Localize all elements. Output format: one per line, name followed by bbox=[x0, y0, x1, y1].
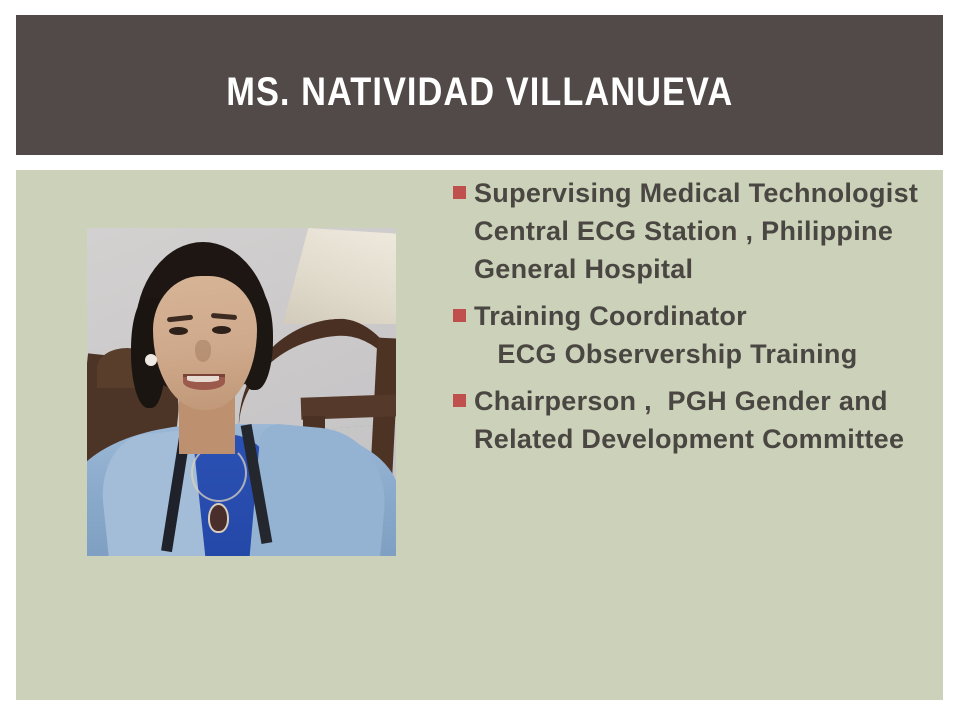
list-item-text: Chairperson , PGH Gender and Related Dev… bbox=[474, 382, 939, 458]
portrait-photo-image bbox=[87, 228, 396, 556]
list-item: Training Coordinator ECG Observership Tr… bbox=[453, 297, 939, 373]
photo-pendant bbox=[208, 503, 229, 533]
photo-earring bbox=[145, 354, 157, 366]
square-bullet-icon bbox=[453, 309, 466, 322]
slide-content-panel: Supervising Medical Technologist Central… bbox=[16, 170, 943, 700]
square-bullet-icon bbox=[453, 186, 466, 199]
slide: MS. NATIVIDAD VILLANUEVA bbox=[0, 0, 960, 720]
photo-eye-left bbox=[169, 327, 188, 335]
photo-nose bbox=[195, 340, 211, 362]
portrait-photo bbox=[87, 228, 396, 556]
page-title: MS. NATIVIDAD VILLANUEVA bbox=[226, 70, 733, 115]
list-item: Chairperson , PGH Gender and Related Dev… bbox=[453, 382, 939, 458]
list-item-text: Supervising Medical Technologist Central… bbox=[474, 174, 939, 288]
bullet-list: Supervising Medical Technologist Central… bbox=[453, 174, 939, 467]
photo-eye-right bbox=[212, 326, 231, 334]
square-bullet-icon bbox=[453, 394, 466, 407]
list-item: Supervising Medical Technologist Central… bbox=[453, 174, 939, 288]
slide-title-bar: MS. NATIVIDAD VILLANUEVA bbox=[16, 15, 943, 155]
photo-teeth bbox=[187, 376, 219, 382]
list-item-text: Training Coordinator ECG Observership Tr… bbox=[474, 297, 939, 373]
